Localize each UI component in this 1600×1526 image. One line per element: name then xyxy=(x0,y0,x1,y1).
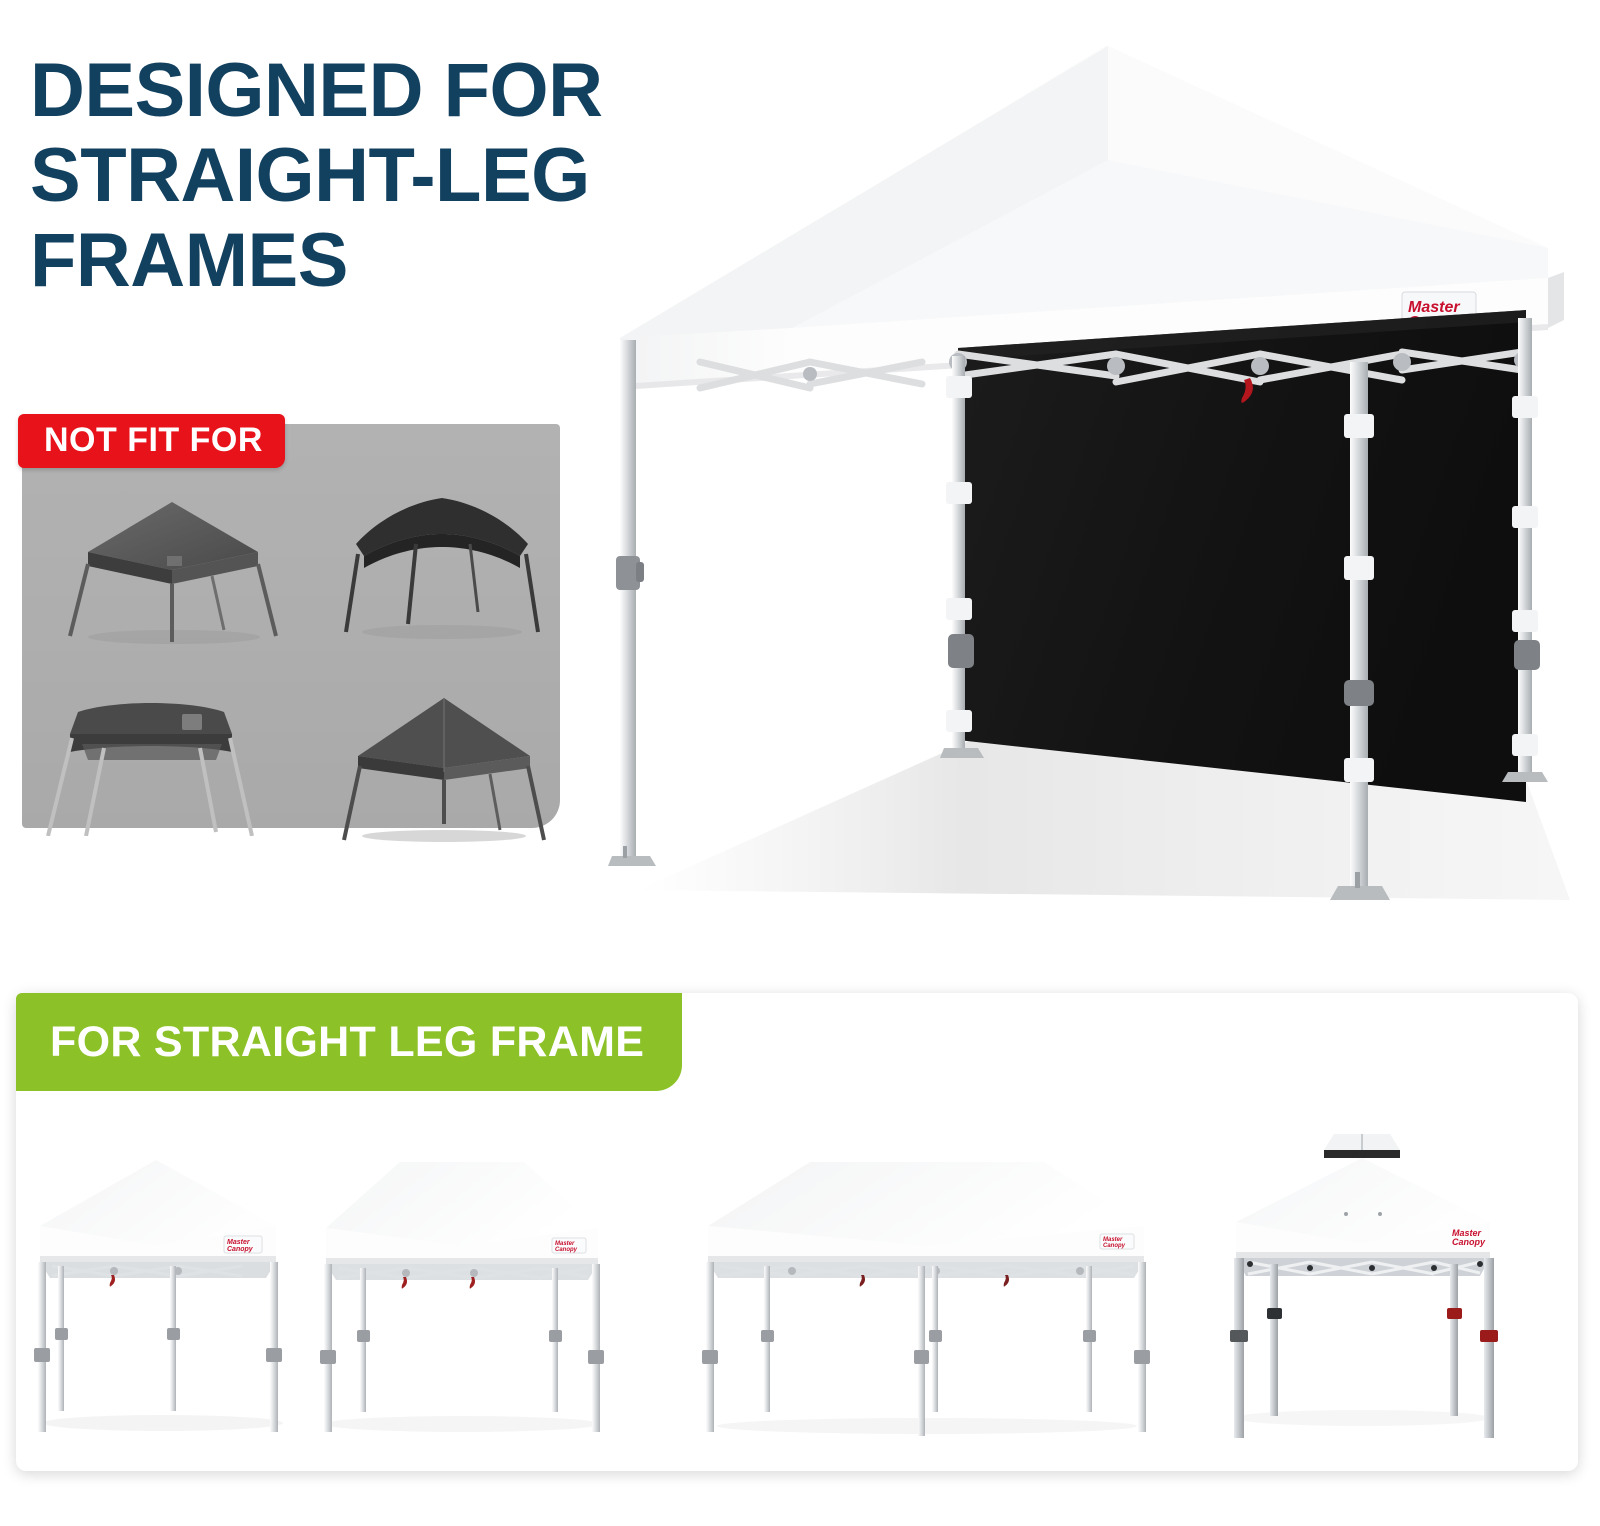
straight-leg-canopy-2: Master Canopy xyxy=(312,1138,612,1438)
canopy-3-brand-label: Master Canopy xyxy=(1100,1234,1134,1249)
for-straight-leg-banner-label: FOR STRAIGHT LEG FRAME xyxy=(50,1018,644,1067)
svg-text:Canopy: Canopy xyxy=(1103,1243,1126,1249)
canopy-4-brand-label: Master Canopy xyxy=(1452,1228,1486,1247)
straight-leg-canopy-4: Master Canopy xyxy=(1194,1118,1524,1438)
straight-leg-canopy-row: Master Canopy xyxy=(16,1100,1578,1460)
svg-text:Master: Master xyxy=(227,1239,251,1246)
not-fit-tent-2 xyxy=(342,492,542,642)
svg-text:Canopy: Canopy xyxy=(555,1247,578,1253)
not-fit-tent-1 xyxy=(62,496,282,646)
not-fit-tent-4 xyxy=(340,694,550,844)
leg-front-left xyxy=(608,340,656,866)
canopy-1-brand-label: Master Canopy xyxy=(224,1236,262,1253)
canopy-2-brand-label: Master Canopy xyxy=(552,1238,586,1253)
for-straight-leg-banner: FOR STRAIGHT LEG FRAME xyxy=(16,993,682,1091)
not-fit-tent-3 xyxy=(42,686,262,836)
hero-product-image: Master Canopy xyxy=(560,10,1600,940)
not-fit-for-badge: NOT FIT FOR xyxy=(18,414,285,468)
svg-text:Canopy: Canopy xyxy=(227,1246,254,1253)
svg-text:Canopy: Canopy xyxy=(1452,1237,1486,1247)
straight-leg-canopy-3: Master Canopy xyxy=(692,1138,1162,1438)
not-fit-for-panel: NOT FIT FOR xyxy=(22,424,560,828)
straight-leg-canopy-1: Master Canopy xyxy=(28,1138,298,1438)
